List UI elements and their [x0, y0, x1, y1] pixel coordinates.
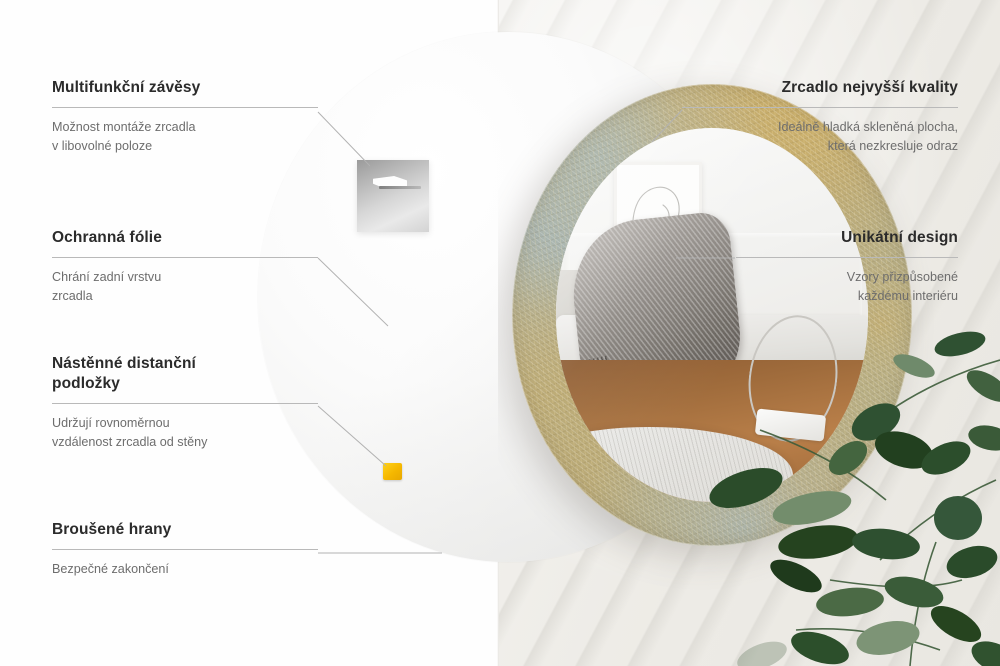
callout-description: Ideálně hladká skleněná plocha, která ne…	[682, 118, 958, 156]
callout-nastenne-distancni-podlozky: Nástěnné distanční podložky Udržují rovn…	[52, 354, 318, 451]
callout-title: Ochranná fólie	[52, 228, 318, 248]
callout-rule	[736, 257, 958, 258]
callout-ochranna-folie: Ochranná fólie Chrání zadní vrstvu zrcad…	[52, 228, 318, 306]
plant-foliage	[700, 330, 1000, 666]
spacer-pad	[383, 463, 402, 480]
callout-title: Unikátní design	[736, 228, 958, 248]
callout-brousene-hrany: Broušené hrany Bezpečné zakončení	[52, 520, 318, 579]
callout-description: Udržují rovnoměrnou vzdálenost zrcadla o…	[52, 414, 318, 452]
callout-description: Vzory přizpůsobené každému interiéru	[736, 268, 958, 306]
callout-zrcadlo-nejvyssi-kvality: Zrcadlo nejvyšší kvality Ideálně hladká …	[682, 78, 958, 156]
callout-rule	[52, 403, 318, 404]
callout-rule	[52, 549, 318, 550]
leaves-icon	[700, 330, 1000, 666]
hanger-bracket	[357, 160, 429, 232]
callout-unikatni-design: Unikátní design Vzory přizpůsobené každé…	[736, 228, 958, 306]
callout-title: Nástěnné distanční podložky	[52, 354, 318, 394]
bracket-bar	[379, 186, 421, 189]
callout-rule	[52, 107, 318, 108]
callout-title: Multifunkční závěsy	[52, 78, 318, 98]
callout-title: Zrcadlo nejvyšší kvality	[682, 78, 958, 98]
callout-multifunkcni-zavesy: Multifunkční závěsy Možnost montáže zrca…	[52, 78, 318, 156]
callout-title: Broušené hrany	[52, 520, 318, 540]
callout-rule	[52, 257, 318, 258]
callout-description: Možnost montáže zrcadla v libovolné polo…	[52, 118, 318, 156]
callout-description: Chrání zadní vrstvu zrcadla	[52, 268, 318, 306]
callout-description: Bezpečné zakončení	[52, 560, 318, 579]
infographic-canvas: Multifunkční závěsy Možnost montáže zrca…	[0, 0, 1000, 666]
callout-rule	[682, 107, 958, 108]
